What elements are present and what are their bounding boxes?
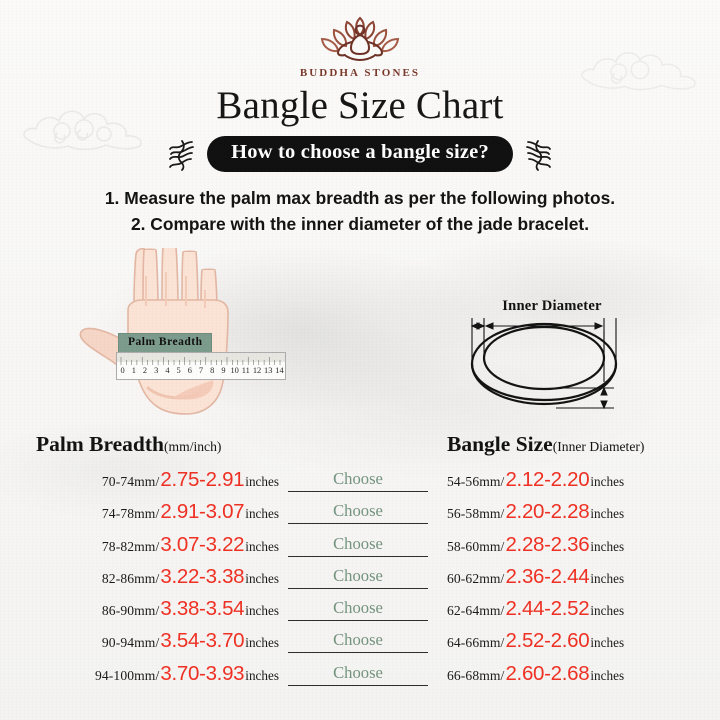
left-unit: inches <box>245 474 279 490</box>
left-inch: 2.75-2.91 <box>159 470 245 491</box>
bangle-diagram <box>452 296 652 416</box>
left-unit: inches <box>245 506 279 522</box>
subtitle-row: How to choose a bangle size? <box>0 136 720 172</box>
brand-name: BUDDHA STONES <box>0 67 720 79</box>
right-unit: inches <box>590 571 624 587</box>
ruler-numbers: 0 1 2 3 4 5 6 7 8 9 10 11 12 13 14 <box>117 362 285 378</box>
right-inch: 2.20-2.28 <box>504 502 590 523</box>
left-mm: 90-94mm/ <box>102 635 159 651</box>
right-unit: inches <box>590 635 624 651</box>
size-table: 70-74mm/2.75-2.91inches Choose 54-56mm/2… <box>0 470 720 696</box>
left-inch: 3.54-3.70 <box>159 631 245 652</box>
right-unit: inches <box>590 474 624 490</box>
ruler-num: 6 <box>184 366 195 375</box>
ruler-num: 5 <box>173 366 184 375</box>
left-inch: 3.70-3.93 <box>159 664 245 685</box>
choose-option[interactable]: Choose <box>288 470 428 492</box>
choose-label: Choose <box>333 469 383 488</box>
right-inch: 2.44-2.52 <box>504 599 590 620</box>
left-inch: 3.07-3.22 <box>159 535 245 556</box>
instruction-steps: 1. Measure the palm max breadth as per t… <box>0 186 720 238</box>
right-unit: inches <box>590 539 624 555</box>
right-unit: inches <box>590 506 624 522</box>
table-row: 94-100mm/3.70-3.93inches Choose 66-68mm/… <box>0 664 720 696</box>
left-mm: 78-82mm/ <box>102 539 159 555</box>
left-size-cell: 78-82mm/3.07-3.22inches <box>102 535 279 556</box>
left-size-cell: 70-74mm/2.75-2.91inches <box>102 470 279 491</box>
choose-option[interactable]: Choose <box>288 502 428 524</box>
ruler-num: 7 <box>195 366 206 375</box>
choose-label: Choose <box>333 534 383 553</box>
palm-breadth-label: Palm Breadth <box>118 333 212 354</box>
left-inch: 3.38-3.54 <box>159 599 245 620</box>
table-row: 86-90mm/3.38-3.54inches Choose 62-64mm/2… <box>0 599 720 631</box>
left-mm: 82-86mm/ <box>102 571 159 587</box>
right-header-sub: (Inner Diameter) <box>553 439 645 454</box>
right-size-cell: 56-58mm/2.20-2.28inches <box>447 502 624 523</box>
left-mm: 74-78mm/ <box>102 506 159 522</box>
left-unit: inches <box>245 668 279 684</box>
right-mm: 60-62mm/ <box>447 571 504 587</box>
ruler-num: 4 <box>162 366 173 375</box>
right-size-cell: 54-56mm/2.12-2.20inches <box>447 470 624 491</box>
left-mm: 86-90mm/ <box>102 603 159 619</box>
right-mm: 54-56mm/ <box>447 474 504 490</box>
right-mm: 56-58mm/ <box>447 506 504 522</box>
left-unit: inches <box>245 539 279 555</box>
choose-label: Choose <box>333 663 383 682</box>
ruler-num: 3 <box>151 366 162 375</box>
right-unit: inches <box>590 603 624 619</box>
right-inch: 2.36-2.44 <box>504 567 590 588</box>
ruler-num: 2 <box>139 366 150 375</box>
left-unit: inches <box>245 571 279 587</box>
choose-option[interactable]: Choose <box>288 631 428 653</box>
table-row: 70-74mm/2.75-2.91inches Choose 54-56mm/2… <box>0 470 720 502</box>
table-row: 74-78mm/2.91-3.07inches Choose 56-58mm/2… <box>0 502 720 534</box>
right-inch: 2.60-2.68 <box>504 664 590 685</box>
right-unit: inches <box>590 668 624 684</box>
ruler-num: 8 <box>207 366 218 375</box>
ruler-num: 11 <box>240 366 251 375</box>
lotus-meditation-icon <box>300 8 420 66</box>
size-chart-page: BUDDHA STONES Bangle Size Chart How to c… <box>0 0 720 720</box>
right-mm: 58-60mm/ <box>447 539 504 555</box>
left-header-sub: (mm/inch) <box>164 439 221 454</box>
right-inch: 2.12-2.20 <box>504 470 590 491</box>
ruler-num: 13 <box>263 366 274 375</box>
choose-option[interactable]: Choose <box>288 664 428 686</box>
ruler-num: 14 <box>274 366 285 375</box>
left-size-cell: 94-100mm/3.70-3.93inches <box>95 664 279 685</box>
right-inch: 2.52-2.60 <box>504 631 590 652</box>
right-mm: 66-68mm/ <box>447 668 504 684</box>
choose-label: Choose <box>333 630 383 649</box>
right-mm: 64-66mm/ <box>447 635 504 651</box>
choose-option[interactable]: Choose <box>288 535 428 557</box>
ruler: 0 1 2 3 4 5 6 7 8 9 10 11 12 13 14 <box>116 352 286 380</box>
page-title: Bangle Size Chart <box>0 83 720 128</box>
right-size-cell: 60-62mm/2.36-2.44inches <box>447 567 624 588</box>
ruler-num: 0 <box>117 366 128 375</box>
table-row: 90-94mm/3.54-3.70inches Choose 64-66mm/2… <box>0 631 720 663</box>
left-size-cell: 74-78mm/2.91-3.07inches <box>102 502 279 523</box>
choose-option[interactable]: Choose <box>288 567 428 589</box>
subtitle-pill: How to choose a bangle size? <box>207 136 513 172</box>
left-unit: inches <box>245 635 279 651</box>
choose-option[interactable]: Choose <box>288 599 428 621</box>
ruler-ticks <box>117 353 285 362</box>
choose-label: Choose <box>333 501 383 520</box>
left-size-cell: 86-90mm/3.38-3.54inches <box>102 599 279 620</box>
left-mm: 70-74mm/ <box>102 474 159 490</box>
right-inch: 2.28-2.36 <box>504 535 590 556</box>
chinese-ornament-icon <box>168 137 198 171</box>
ruler-num: 9 <box>218 366 229 375</box>
brand-logo: BUDDHA STONES <box>0 8 720 79</box>
right-size-cell: 66-68mm/2.60-2.68inches <box>447 664 624 685</box>
ruler-num: 10 <box>229 366 240 375</box>
bangle-ring-icon <box>452 296 652 416</box>
right-mm: 62-64mm/ <box>447 603 504 619</box>
right-size-cell: 62-64mm/2.44-2.52inches <box>447 599 624 620</box>
table-row: 82-86mm/3.22-3.38inches Choose 60-62mm/2… <box>0 567 720 599</box>
choose-label: Choose <box>333 566 383 585</box>
left-size-cell: 90-94mm/3.54-3.70inches <box>102 631 279 652</box>
left-inch: 2.91-3.07 <box>159 502 245 523</box>
table-row: 78-82mm/3.07-3.22inches Choose 58-60mm/2… <box>0 535 720 567</box>
left-header-main: Palm Breadth <box>36 432 164 456</box>
right-table-header: Bangle Size(Inner Diameter) <box>447 432 644 457</box>
left-mm: 94-100mm/ <box>95 668 159 684</box>
left-size-cell: 82-86mm/3.22-3.38inches <box>102 567 279 588</box>
step-2: 2. Compare with the inner diameter of th… <box>0 212 720 238</box>
step-1: 1. Measure the palm max breadth as per t… <box>0 186 720 212</box>
left-inch: 3.22-3.38 <box>159 567 245 588</box>
chinese-ornament-icon <box>522 137 552 171</box>
left-unit: inches <box>245 603 279 619</box>
choose-label: Choose <box>333 598 383 617</box>
ruler-num: 1 <box>128 366 139 375</box>
ruler-num: 12 <box>251 366 262 375</box>
right-header-main: Bangle Size <box>447 432 553 456</box>
right-size-cell: 64-66mm/2.52-2.60inches <box>447 631 624 652</box>
left-table-header: Palm Breadth(mm/inch) <box>36 432 221 457</box>
right-size-cell: 58-60mm/2.28-2.36inches <box>447 535 624 556</box>
